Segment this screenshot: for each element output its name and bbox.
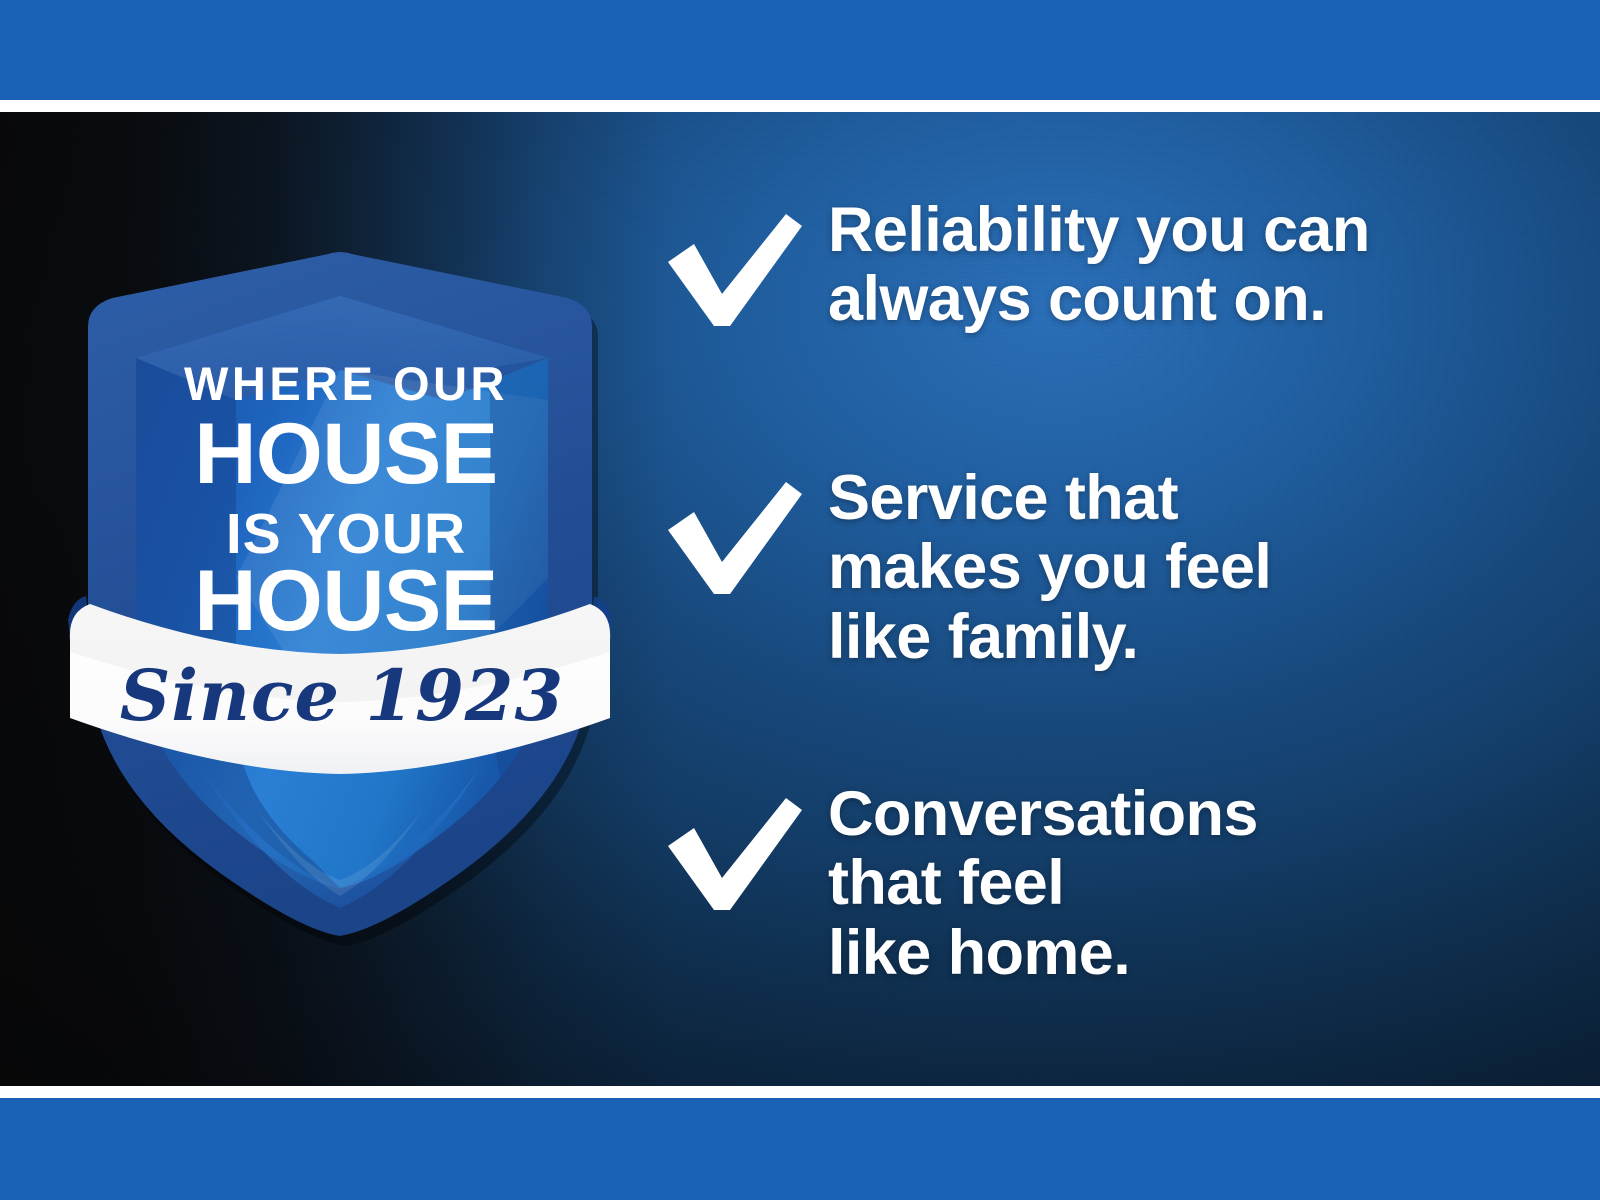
- list-item: Service that makes you feel like family.: [660, 464, 1271, 672]
- list-item: Conversations that feel like home.: [660, 780, 1258, 988]
- list-item-text: Reliability you can always count on.: [828, 196, 1370, 335]
- bottom-divider: [0, 1086, 1600, 1098]
- promo-poster: WHERE OUR HOUSE IS YOUR HOUSE Since 1923: [0, 0, 1600, 1200]
- top-divider: [0, 100, 1600, 112]
- list-item-text: Conversations that feel like home.: [828, 780, 1258, 988]
- list-item-text: Service that makes you feel like family.: [828, 464, 1271, 672]
- list-item: Reliability you can always count on.: [660, 196, 1370, 335]
- shield-badge: WHERE OUR HOUSE IS YOUR HOUSE Since 1923: [60, 248, 620, 948]
- check-icon: [660, 478, 808, 598]
- check-icon: [660, 210, 808, 330]
- benefits-list: Reliability you can always count on. Ser…: [660, 196, 1540, 1036]
- top-brand-bar: [0, 0, 1600, 100]
- check-icon: [660, 794, 808, 914]
- bottom-brand-bar: [0, 1098, 1600, 1200]
